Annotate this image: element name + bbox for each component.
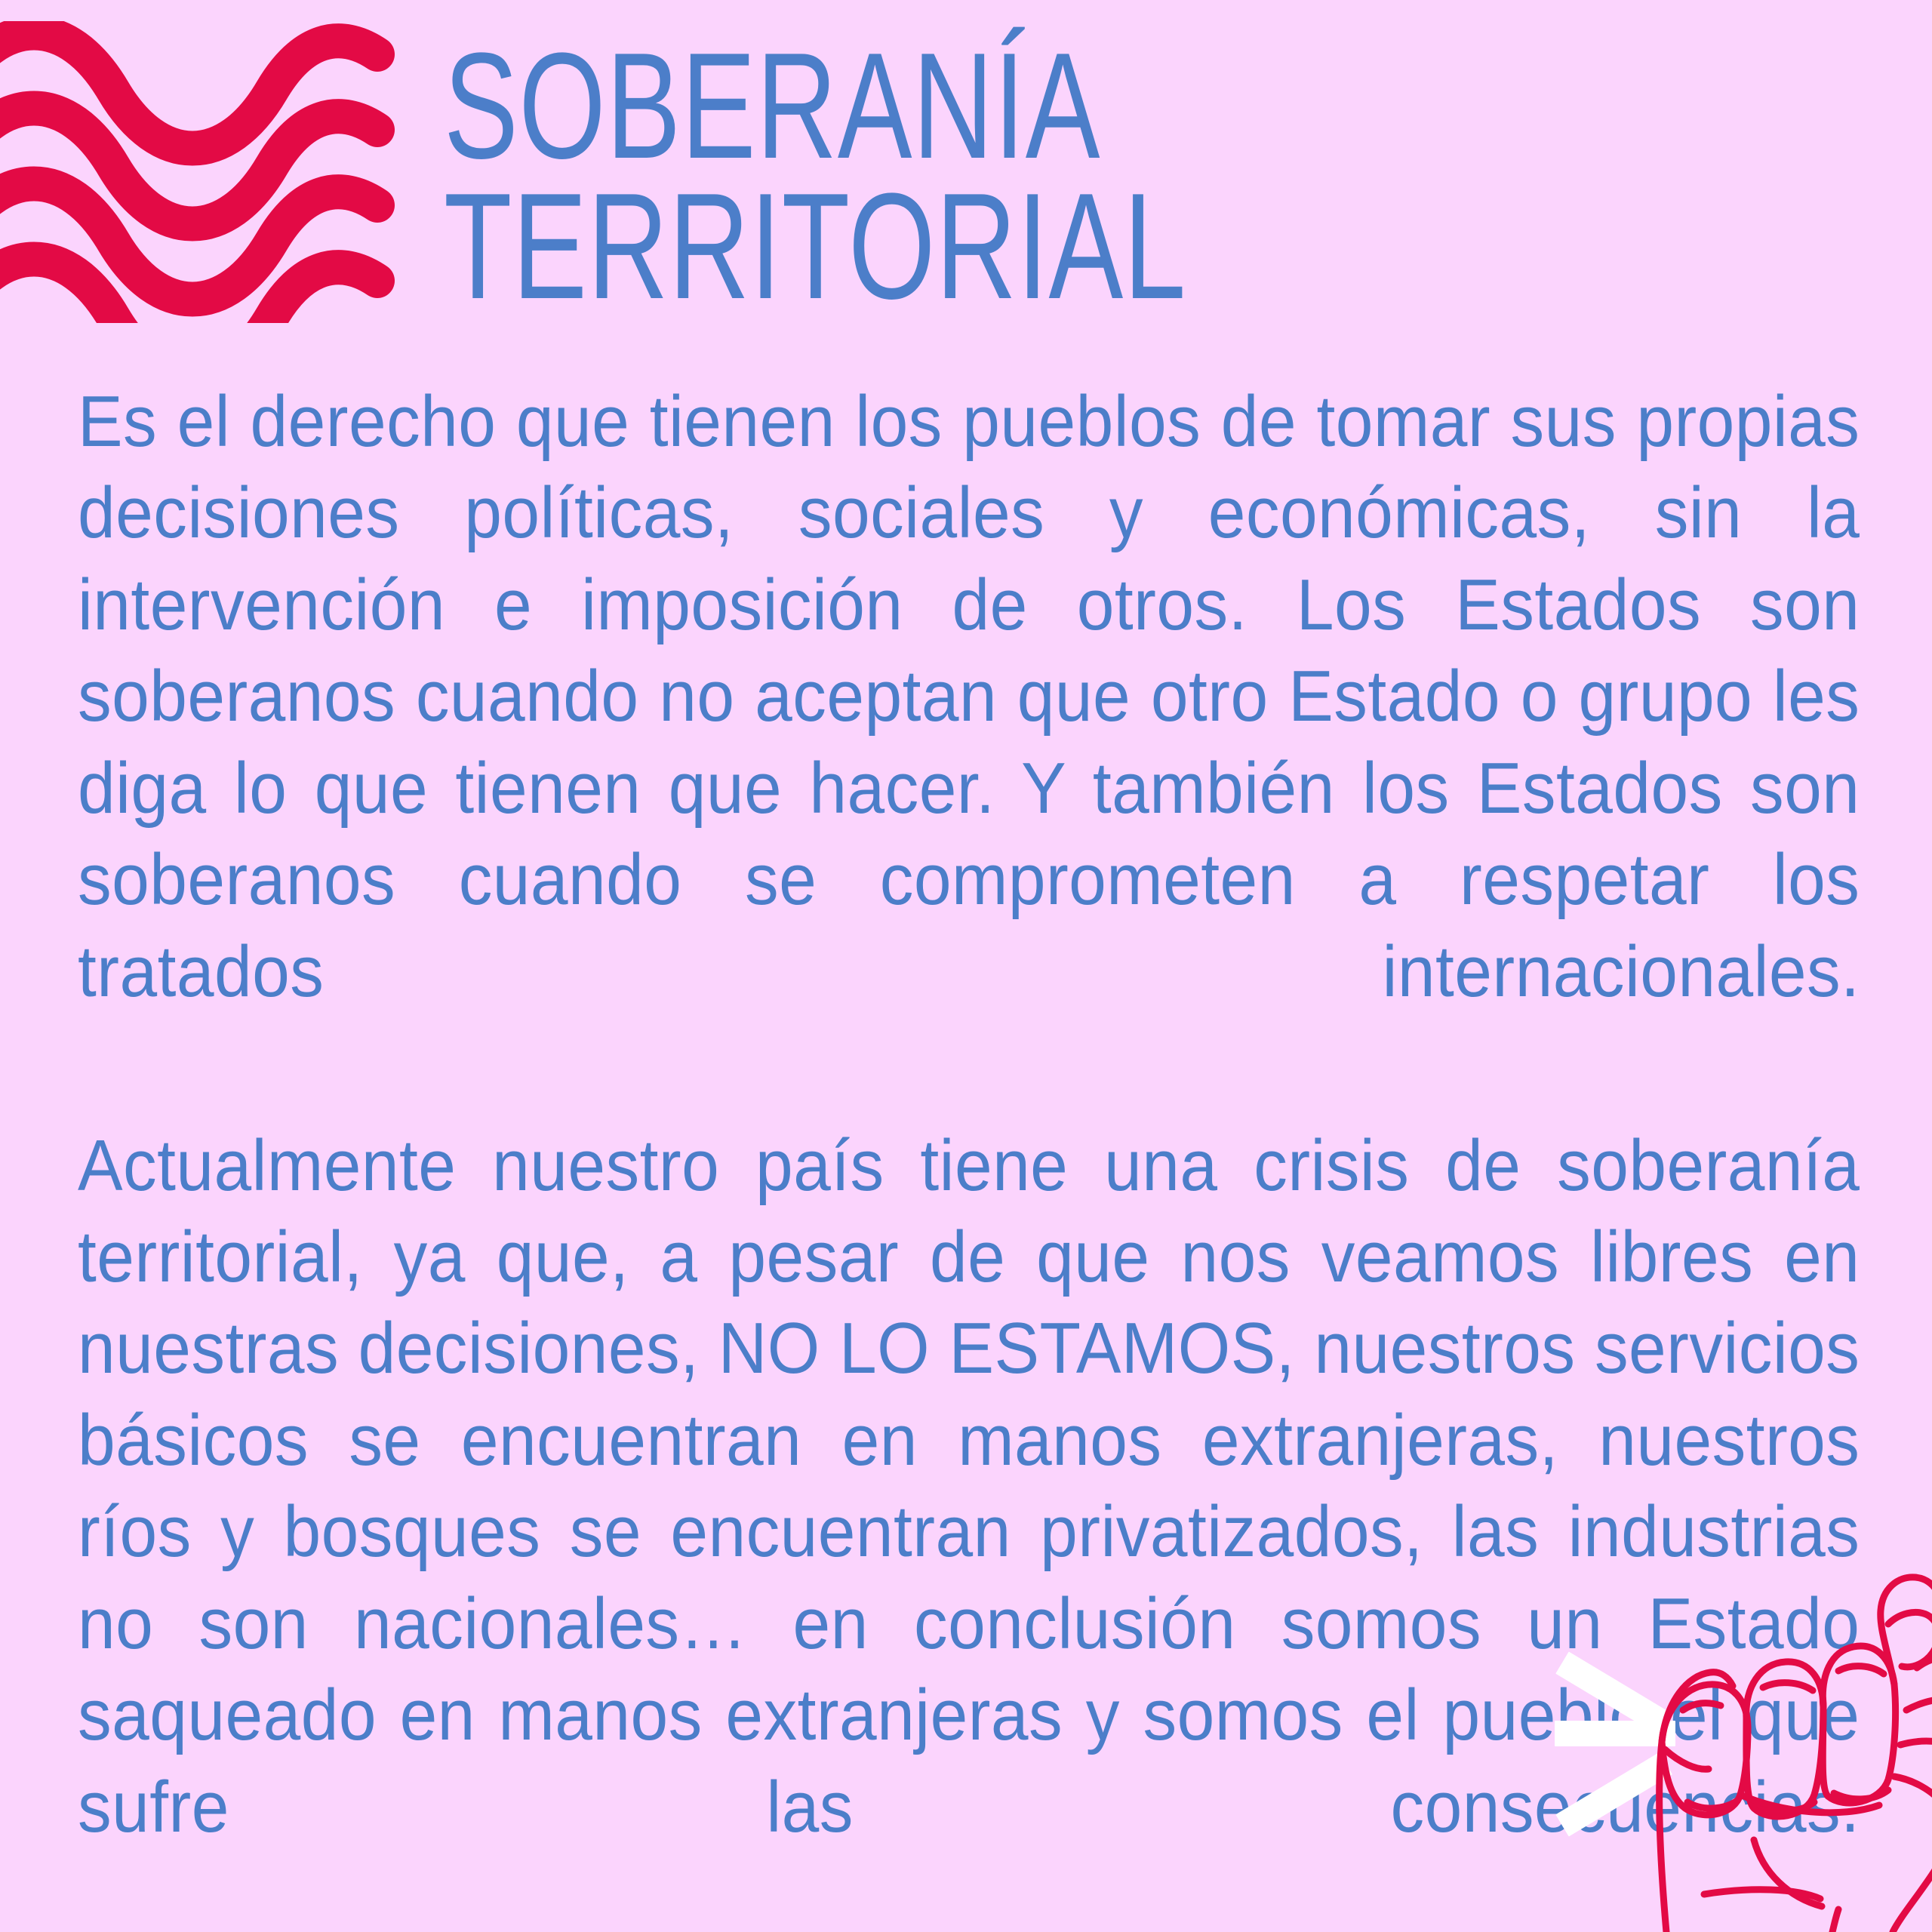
title-line-soberania: SOBERANÍA [444, 32, 1393, 181]
poster-canvas: SOBERANÍA TERRITORIAL Es el derecho que … [0, 0, 1932, 1932]
raised-fist-icon [1540, 1540, 1932, 1932]
page-title: SOBERANÍA TERRITORIAL [444, 32, 1727, 321]
title-line-territorial: TERRITORIAL [444, 172, 1393, 321]
wave-logo-icon [0, 21, 423, 323]
paragraph-1: Es el derecho que tienen los pueblos de … [78, 376, 1860, 1109]
header: SOBERANÍA TERRITORIAL [0, 0, 1932, 362]
